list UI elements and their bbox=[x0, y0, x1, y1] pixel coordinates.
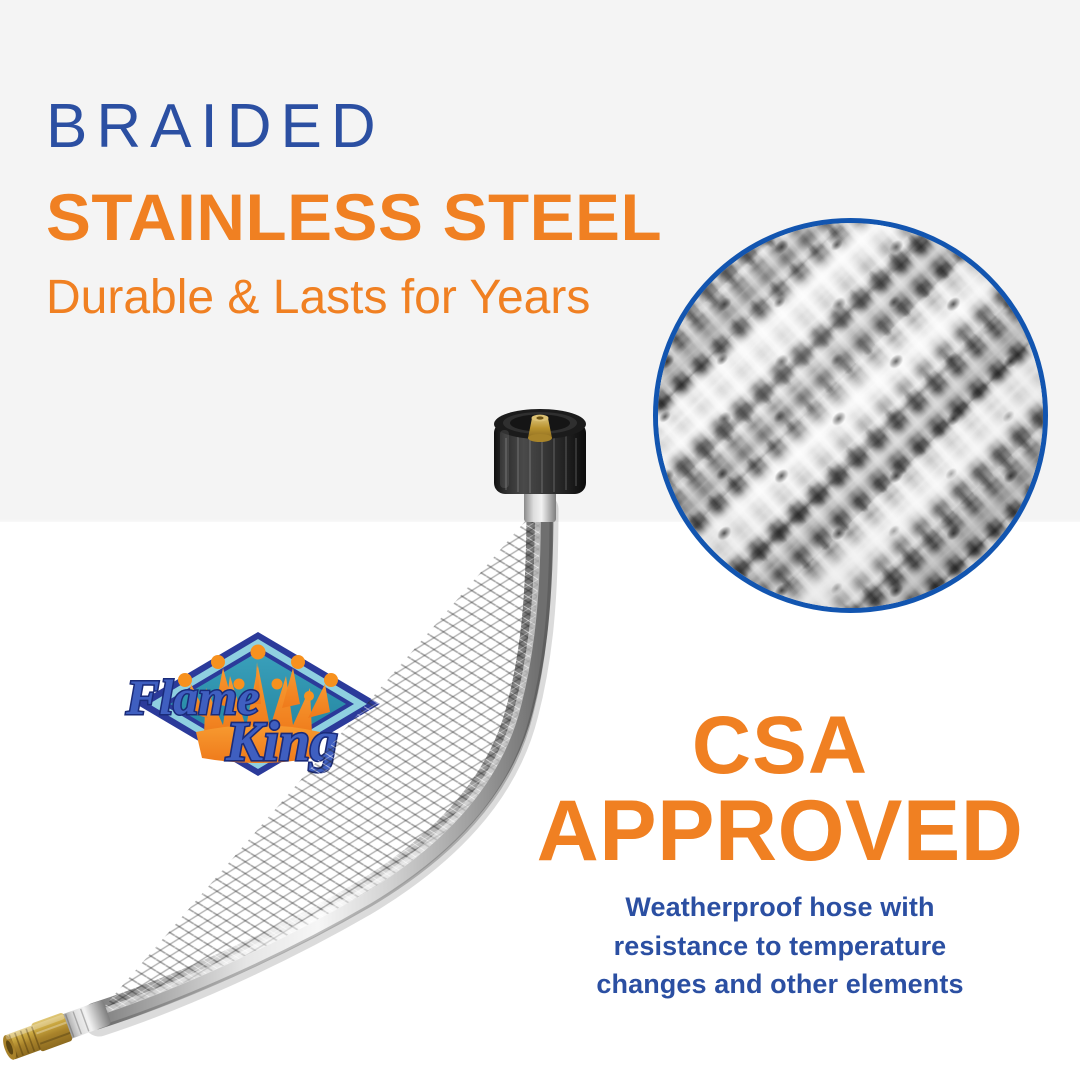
headline-block: BRAIDED STAINLESS STEEL Durable & Lasts … bbox=[46, 96, 706, 322]
csa-description-line-3: changes and other elements bbox=[520, 965, 1040, 1003]
csa-approved-block: CSA APPROVED Weatherproof hose with resi… bbox=[520, 706, 1040, 1003]
product-feature-graphic: BRAIDED STAINLESS STEEL Durable & Lasts … bbox=[0, 0, 1080, 1080]
headline-line-stainless-steel: STAINLESS STEEL bbox=[46, 184, 719, 250]
csa-description-line-1: Weatherproof hose with bbox=[520, 888, 1040, 926]
headline-line-braided: BRAIDED bbox=[46, 96, 706, 158]
braided-steel-closeup-circle bbox=[653, 218, 1048, 613]
braid-vignette bbox=[658, 223, 1043, 608]
csa-heading-csa: CSA bbox=[520, 706, 1040, 786]
headline-subtext-durable: Durable & Lasts for Years bbox=[46, 274, 706, 322]
csa-description-line-2: resistance to temperature bbox=[520, 927, 1040, 965]
csa-description: Weatherproof hose with resistance to tem… bbox=[520, 888, 1040, 1003]
csa-heading-approved: APPROVED bbox=[520, 788, 1040, 874]
hose-qcc-connector bbox=[494, 409, 586, 522]
